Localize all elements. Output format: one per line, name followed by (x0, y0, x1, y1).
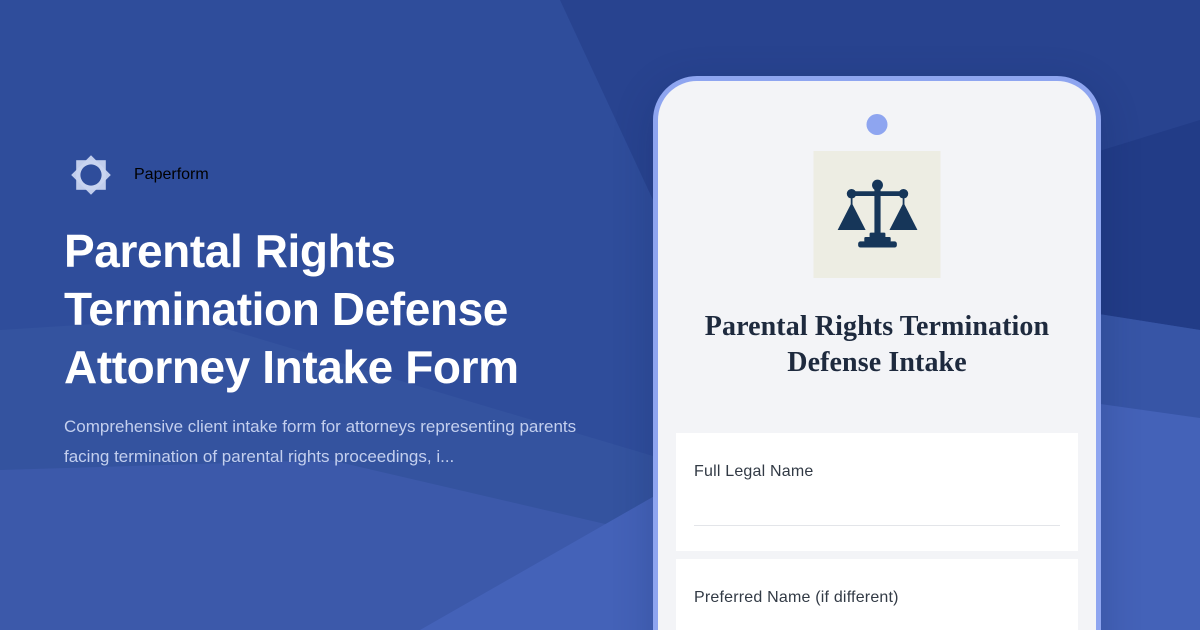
form-hero-image (814, 151, 941, 278)
field-label: Full Legal Name (694, 461, 1060, 483)
brand-lockup: Paperform (64, 148, 209, 202)
phone-mockup: Parental Rights Termination Defense Inta… (653, 76, 1101, 630)
brand-name: Paperform (134, 166, 209, 184)
field-label: Preferred Name (if different) (694, 587, 1060, 609)
paperform-star-logo-icon (64, 148, 118, 202)
form-field-preferred-name[interactable]: Preferred Name (if different) (676, 559, 1078, 630)
form-title: Parental Rights Termination Defense Inta… (658, 309, 1096, 381)
camera-dot-icon (867, 114, 888, 135)
social-share-card: Paperform Parental Rights Termination De… (0, 0, 1200, 630)
field-input-underline[interactable] (694, 525, 1060, 526)
form-field-full-legal-name[interactable]: Full Legal Name (676, 433, 1078, 551)
page-description: Comprehensive client intake form for att… (64, 412, 584, 472)
page-title: Parental Rights Termination Defense Atto… (64, 222, 604, 396)
scales-of-justice-icon (833, 171, 921, 259)
hero-content: Paperform Parental Rights Termination De… (64, 0, 624, 630)
form-fields-list: Full Legal Name Preferred Name (if diffe… (676, 433, 1078, 630)
